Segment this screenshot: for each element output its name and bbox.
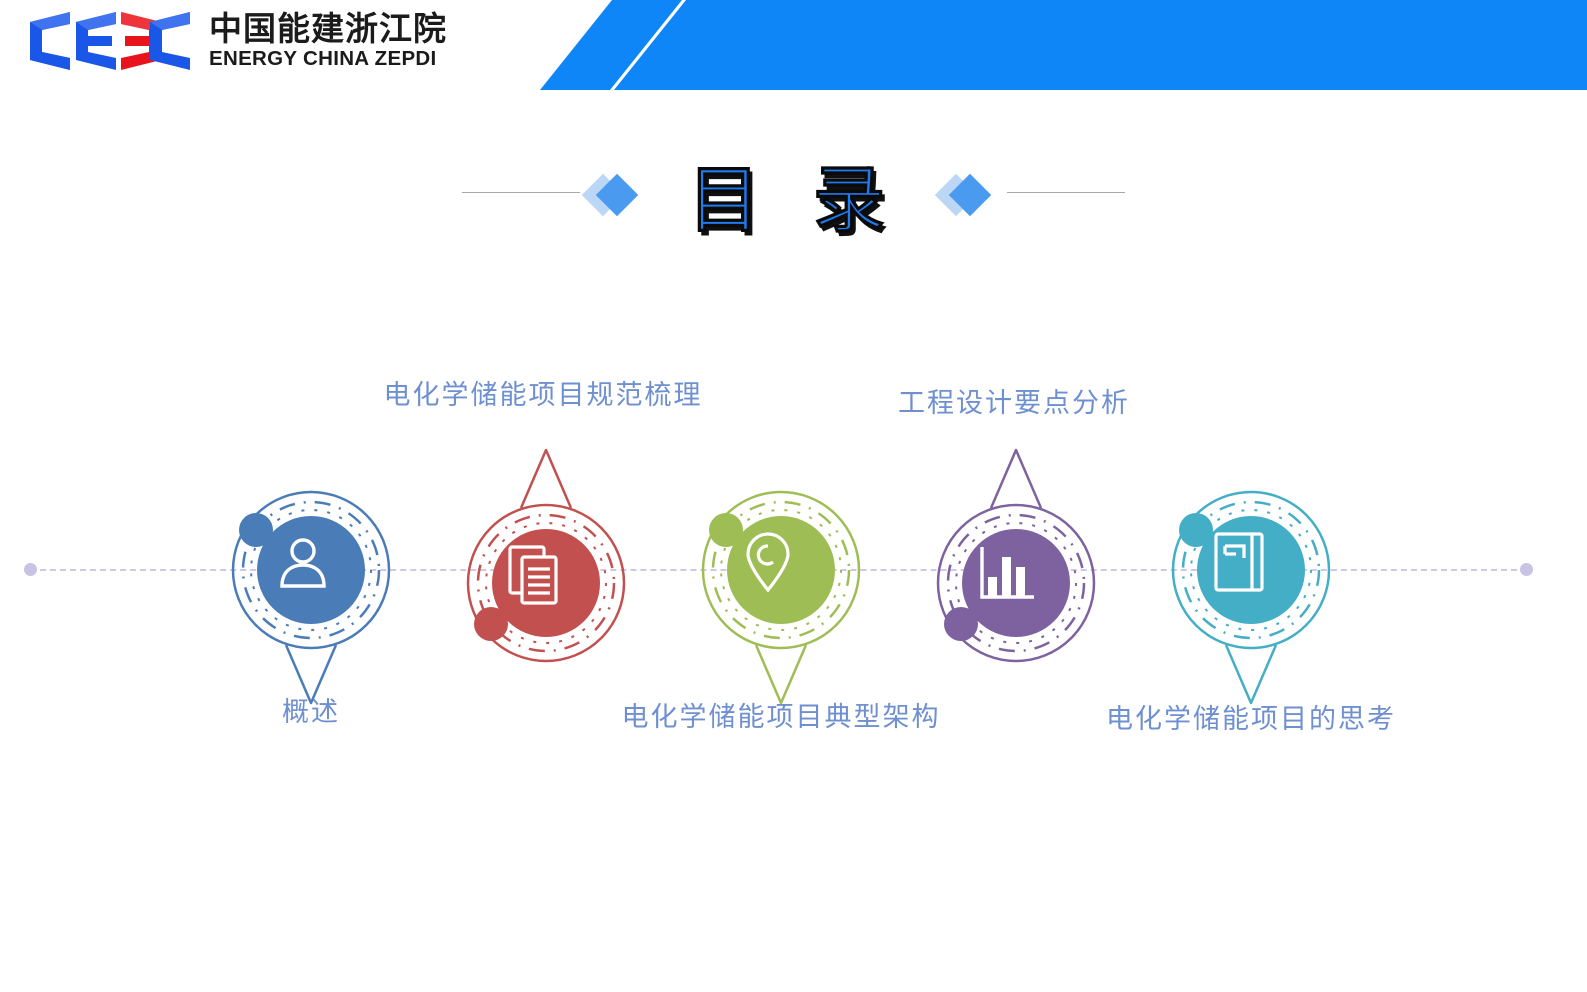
diamond-decoration-right: [933, 170, 1007, 220]
node-accent-dot: [474, 607, 508, 641]
user-icon: [271, 530, 351, 610]
title-rule-right: [1007, 192, 1125, 193]
title-rule-left: [462, 192, 580, 193]
timeline-node-design-points[interactable]: [921, 448, 1111, 678]
book-icon: [1211, 530, 1291, 610]
node-label-standards: 电化学储能项目规范梳理: [378, 378, 708, 414]
ceec-logo-icon: [26, 10, 191, 72]
node-accent-dot: [944, 607, 978, 641]
node-accent-dot: [239, 513, 273, 547]
node-accent-dot: [1179, 513, 1213, 547]
header-banner-shape: [540, 0, 1587, 90]
diamond-decoration-left: [580, 170, 654, 220]
timeline-node-architecture[interactable]: [686, 475, 876, 705]
bar-chart-icon: [976, 543, 1056, 623]
logo-company-name-en: ENERGY CHINA ZEPDI: [209, 49, 447, 70]
node-label-overview: 概述: [146, 695, 476, 731]
section-title-row: 目 录: [0, 160, 1587, 270]
page-title: 目 录: [688, 160, 899, 236]
timeline-endpoint-left: [24, 563, 37, 576]
logo-company-name-cn: 中国能建浙江院: [209, 12, 447, 45]
node-label-reflections: 电化学储能项目的思考: [1086, 702, 1416, 738]
node-label-architecture: 电化学储能项目典型架构: [616, 700, 946, 736]
documents-icon: [506, 543, 586, 623]
node-accent-dot: [709, 513, 743, 547]
location-pin-icon: [741, 530, 821, 610]
timeline-node-standards[interactable]: [451, 448, 641, 678]
page-header: 中国能建浙江院 ENERGY CHINA ZEPDI: [0, 0, 1587, 96]
timeline-endpoint-right: [1520, 563, 1533, 576]
node-label-design-points: 工程设计要点分析: [849, 386, 1179, 422]
timeline-node-reflections[interactable]: [1156, 475, 1346, 705]
brand-logo: 中国能建浙江院 ENERGY CHINA ZEPDI: [26, 10, 447, 72]
timeline-node-overview[interactable]: [216, 475, 406, 705]
